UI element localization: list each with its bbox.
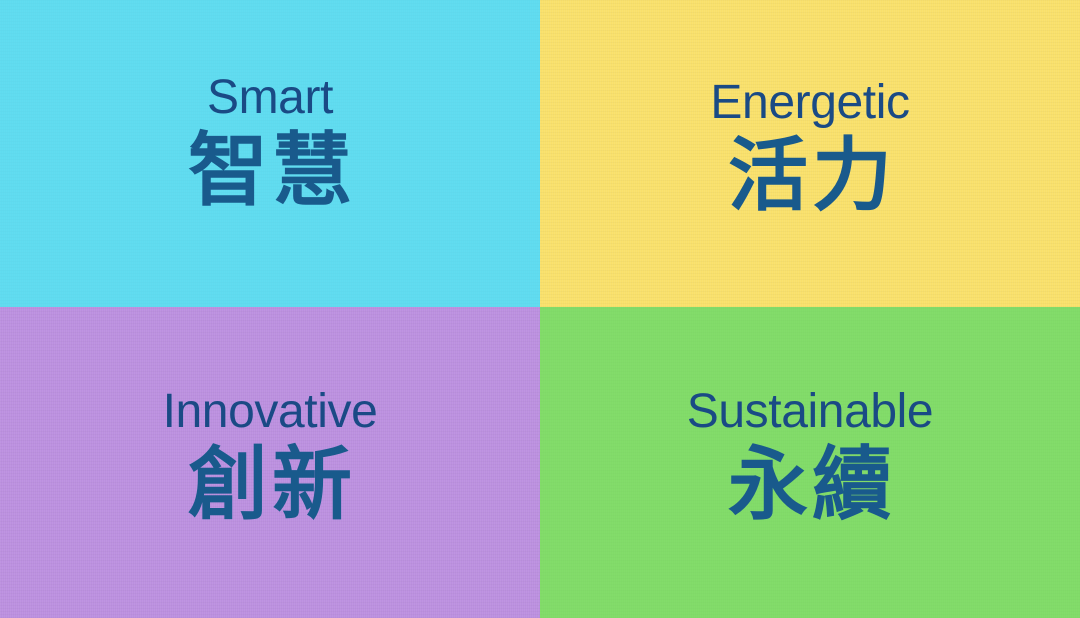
quadrant-sustainable-label-zh: 永續	[724, 443, 896, 527]
quadrant-energetic-text-stack: Energetic 活力	[710, 79, 909, 218]
brand-values-poster: Smart 智慧 Energetic 活力 Innovative 創新 Sust…	[0, 0, 1080, 618]
quadrant-sustainable-text-stack: Sustainable 永續	[687, 388, 933, 527]
quadrant-sustainable-label-en: Sustainable	[687, 388, 933, 437]
quadrant-smart-text-stack: Smart 智慧	[184, 74, 356, 213]
quadrant-smart-label-zh: 智慧	[184, 129, 356, 213]
quadrant-smart: Smart 智慧	[0, 0, 540, 307]
quadrant-innovative-text-stack: Innovative 創新	[163, 388, 378, 527]
quadrant-energetic: Energetic 活力	[540, 0, 1080, 307]
quadrant-energetic-label-zh: 活力	[724, 134, 896, 218]
quadrant-smart-label-en: Smart	[207, 74, 333, 123]
quadrant-energetic-label-en: Energetic	[710, 79, 909, 128]
quadrant-innovative: Innovative 創新	[0, 307, 540, 618]
quadrant-innovative-label-zh: 創新	[184, 443, 356, 527]
quadrant-innovative-label-en: Innovative	[163, 388, 378, 437]
quadrant-sustainable: Sustainable 永續	[540, 307, 1080, 618]
